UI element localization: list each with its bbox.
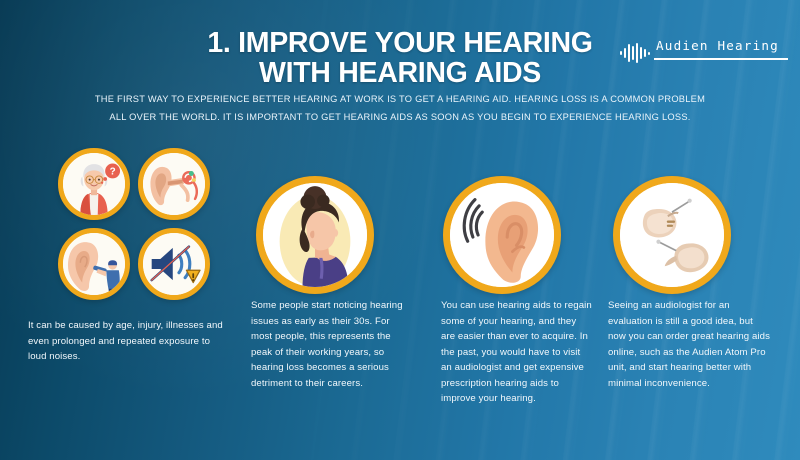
ear-soundwaves-icon [443, 176, 561, 294]
muted-speaker-warning-icon [138, 228, 210, 300]
woman-profile-icon [256, 176, 374, 294]
subtitle-line-1: THE FIRST WAY TO EXPERIENCE BETTER HEARI… [60, 90, 740, 108]
body-column-causes: It can be caused by age, injury, illness… [28, 318, 224, 365]
logo-underline [654, 58, 788, 60]
svg-text:?: ? [110, 167, 116, 178]
body-column-onset-age: Some people start noticing hearing issue… [251, 298, 403, 391]
hearing-aid-devices-icon [613, 176, 731, 294]
ear-anatomy-icon [138, 148, 210, 220]
sound-wave-icon [620, 43, 652, 68]
title-line-1: 1. IMPROVE YOUR HEARING [207, 27, 592, 59]
body-column-audiologist-online: Seeing an audiologist for an evaluation … [608, 298, 770, 391]
brand-logo[interactable]: Audien Hearing [620, 38, 790, 68]
title-line-2: WITH HEARING AIDS [120, 58, 680, 88]
brand-name: Audien Hearing [656, 38, 779, 53]
infographic-poster: 1. IMPROVE YOUR HEARING WITH HEARING AID… [0, 0, 800, 460]
subtitle-line-2: ALL OVER THE WORLD. IT IS IMPORTANT TO G… [60, 108, 740, 126]
body-column-hearing-aids-access: You can use hearing aids to regain some … [441, 298, 593, 407]
page-subtitle: THE FIRST WAY TO EXPERIENCE BETTER HEARI… [60, 90, 740, 126]
page-title: 1. IMPROVE YOUR HEARING WITH HEARING AID… [120, 28, 680, 89]
ear-examination-icon [58, 228, 130, 300]
elderly-woman-question-icon: ? [58, 148, 130, 220]
